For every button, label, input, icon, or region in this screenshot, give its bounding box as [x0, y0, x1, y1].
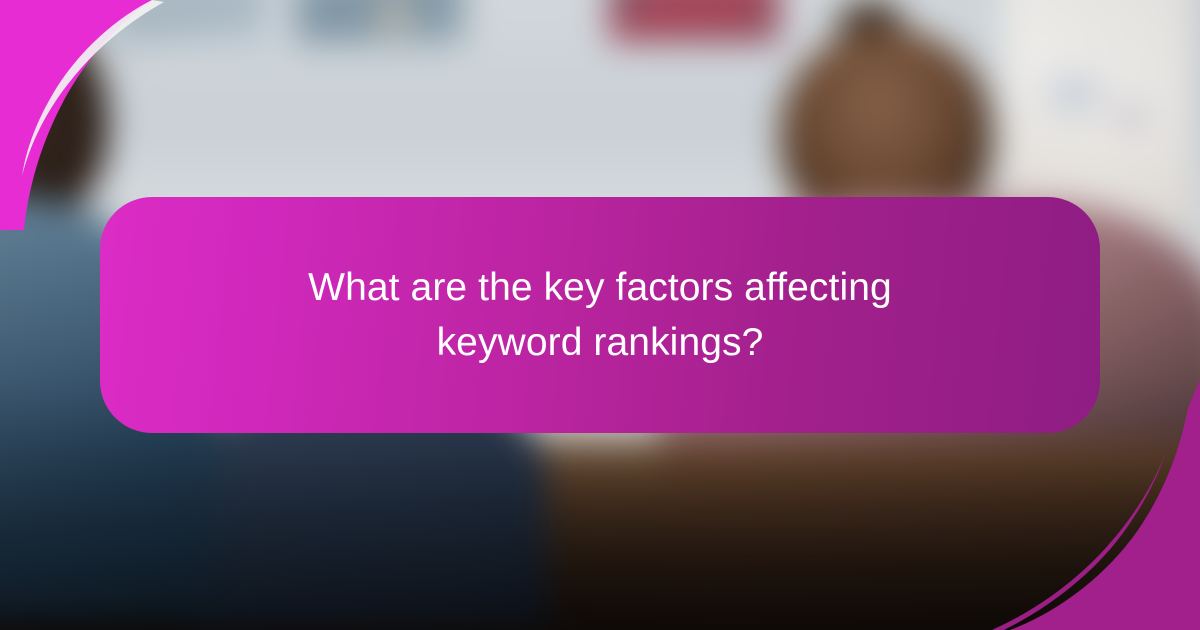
question-card: What are the key factors affecting keywo… — [100, 197, 1100, 433]
banner-canvas: What are the key factors affecting keywo… — [0, 0, 1200, 630]
question-headline: What are the key factors affecting keywo… — [250, 260, 950, 371]
